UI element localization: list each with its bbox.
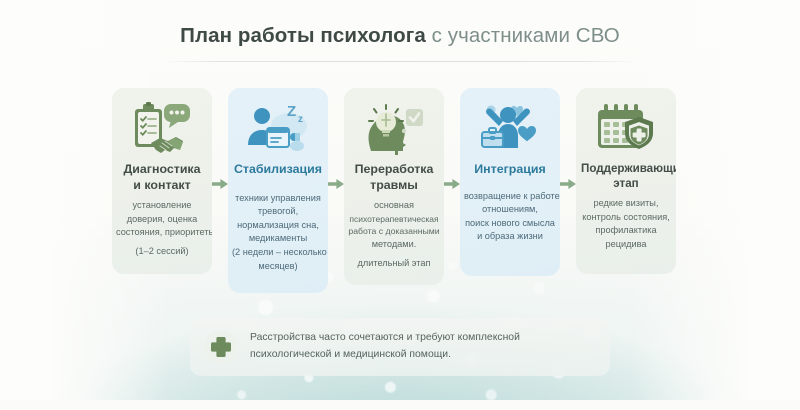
- step-body-line: техники управления: [232, 192, 324, 206]
- step-body-line: (2 недели – несколько: [232, 246, 324, 260]
- step-title: Интеграция: [463, 162, 557, 178]
- person-arms-up-briefcase-hearts-icon: [463, 98, 557, 160]
- steps-row: Диагностика и контакт установление довер…: [112, 88, 692, 293]
- svg-text:Z: Z: [287, 103, 296, 120]
- title-divider: [165, 61, 635, 62]
- step-body-line: и образа жизни: [464, 230, 556, 244]
- note-text: Расстройства часто сочетаются и требуют …: [250, 330, 520, 364]
- step-body-line: установление: [116, 199, 208, 213]
- step-card-stabilizatsiya[interactable]: Z z: [228, 88, 328, 293]
- step-card-podderzhivayushchiy-etap[interactable]: Поддерживающий этап редкие визиты, контр…: [576, 88, 676, 274]
- step-title: Диагностика и контакт: [115, 162, 209, 193]
- step-card-pererabotka-travmy[interactable]: Переработка травмы основная психотерапев…: [344, 88, 444, 285]
- step-body-line: основная: [348, 199, 440, 213]
- head-lightbulb-checkmark-icon: [347, 98, 441, 160]
- step-title-line: Интеграция: [474, 162, 545, 176]
- page-title-light: с участниками СВО: [432, 24, 620, 47]
- step-title-line: Поддерживающий: [581, 162, 676, 175]
- arrow-right-icon: [212, 177, 228, 189]
- note-text-line: психологической и медицинской помощи.: [250, 347, 520, 364]
- step-body-line: тревогой,: [232, 205, 324, 219]
- svg-text:z: z: [298, 114, 303, 125]
- step-title-line: и контакт: [133, 178, 190, 192]
- step-title: Поддерживающий этап: [579, 162, 673, 191]
- header: План работы психолога с участниками СВО: [0, 24, 800, 62]
- step-body: установление доверия, оценка состояния, …: [115, 199, 209, 258]
- step-body-line: месяцев): [232, 260, 324, 274]
- step-body-line: рецидива: [580, 238, 672, 252]
- step-body: техники управления тревогой, нормализаци…: [231, 192, 325, 274]
- arrow-right-icon: [328, 177, 344, 189]
- step-body-line: профилактика: [580, 224, 672, 238]
- medical-cross-icon: [204, 330, 238, 364]
- step-body-line: (1–2 сессий): [116, 245, 208, 259]
- person-sleep-medication-icon: Z z: [231, 98, 325, 160]
- step-body-line: работа с доказанными: [348, 225, 440, 238]
- step-body-line: состояния, приоритеты: [116, 226, 208, 240]
- step-body: редкие визиты, контроль состояния, профи…: [579, 197, 673, 251]
- step-body-line: контроль состояния,: [580, 211, 672, 225]
- page-title-strong: План работы психолога: [180, 24, 426, 47]
- step-title: Переработка травмы: [347, 162, 441, 193]
- step-title-line: Стабилизация: [234, 162, 322, 176]
- note-text-line: Расстройства часто сочетаются и требуют …: [250, 330, 520, 347]
- step-body-line: медикаменты: [232, 232, 324, 246]
- step-title-line: этап: [613, 177, 638, 190]
- step-body-line: возвращение к работе,: [464, 190, 556, 204]
- step-body-line: отношениям,: [464, 203, 556, 217]
- calendar-shield-plus-icon: [579, 98, 673, 160]
- step-body-line: психотерапевтическая: [348, 213, 440, 226]
- page-title: План работы психолога с участниками СВО: [0, 24, 800, 48]
- step-title-line: травмы: [370, 178, 418, 192]
- step-body-line: поиск нового смысла: [464, 217, 556, 231]
- step-title-line: Переработка: [355, 162, 434, 176]
- step-card-diagnostika[interactable]: Диагностика и контакт установление довер…: [112, 88, 212, 274]
- step-title-line: Диагностика: [123, 162, 200, 176]
- step-body-line: длительный этап: [348, 257, 440, 271]
- step-body: возвращение к работе, отношениям, поиск …: [463, 190, 557, 244]
- step-body-line: редкие визиты,: [580, 197, 672, 211]
- clipboard-checklist-handshake-icon: [115, 98, 209, 160]
- note-banner: Расстройства часто сочетаются и требуют …: [190, 318, 610, 376]
- step-body-line: доверия, оценка: [116, 213, 208, 227]
- arrow-right-icon: [444, 177, 460, 189]
- step-body-line: нормализация сна,: [232, 219, 324, 233]
- step-body-line: методами.: [348, 238, 440, 252]
- arrow-right-icon: [560, 177, 576, 189]
- step-body: основная психотерапевтическая работа с д…: [347, 199, 441, 270]
- step-title: Стабилизация: [231, 162, 325, 178]
- step-card-integratsiya[interactable]: Интеграция возвращение к работе, отношен…: [460, 88, 560, 276]
